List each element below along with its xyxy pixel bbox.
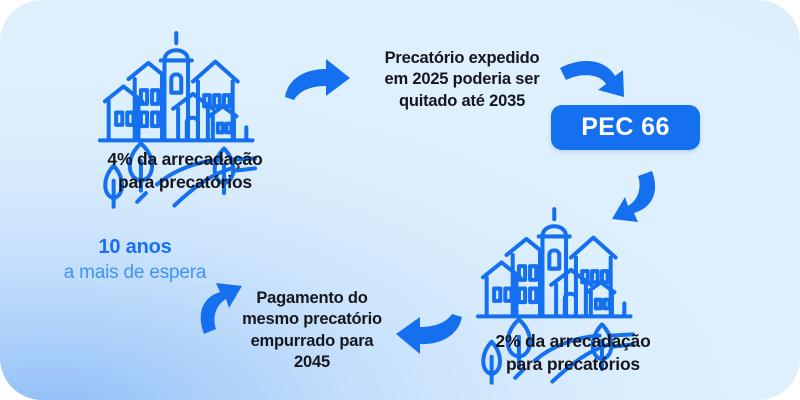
infographic-canvas: 4% da arrecadação para precatórios Preca…: [0, 0, 800, 400]
outcome-label: 10 anos a mais de espera: [20, 234, 250, 285]
outcome-subline: a mais de espera: [20, 260, 250, 285]
outcome-headline: 10 anos: [20, 234, 250, 260]
arrow-up-left-to-outcome-icon: [0, 0, 800, 400]
